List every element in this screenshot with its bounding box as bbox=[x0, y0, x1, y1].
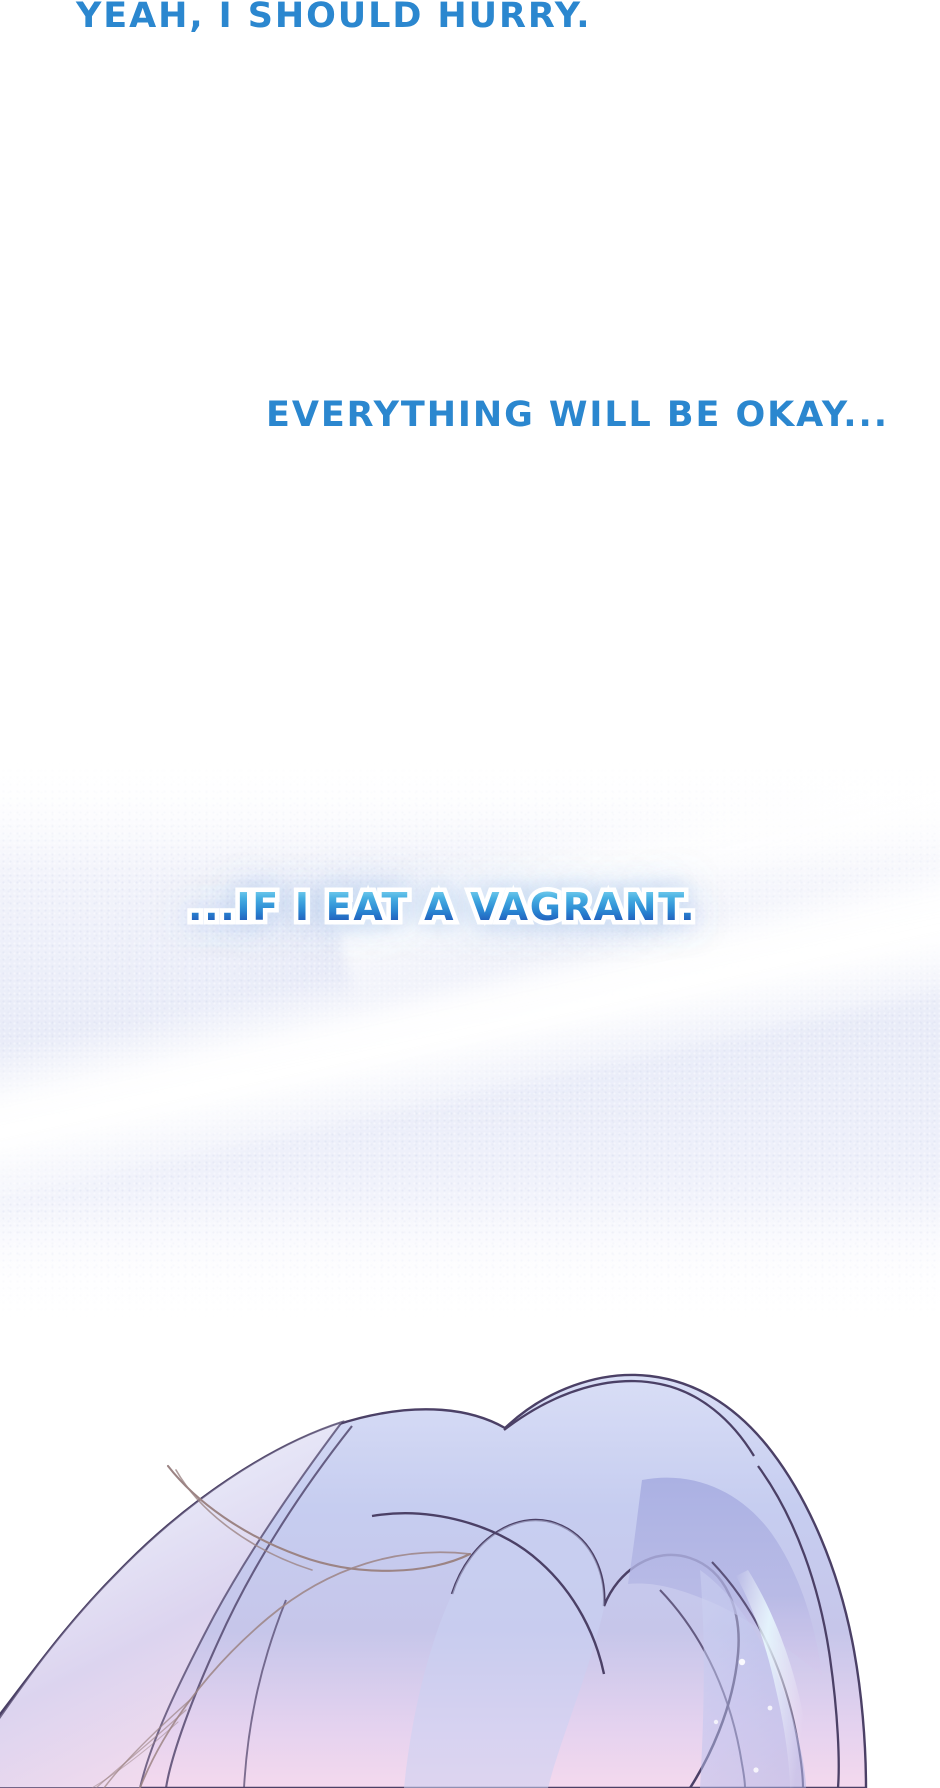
hair-sparkle bbox=[714, 1720, 718, 1724]
character-hair bbox=[0, 1270, 940, 1788]
hair-sparkle bbox=[768, 1706, 773, 1711]
caption-line-3-stack: ...IF I EAT A VAGRANT. ...IF I EAT A VAG… bbox=[188, 888, 696, 928]
comic-panel: YEAH, I SHOULD HURRY. EVERYTHING WILL BE… bbox=[0, 0, 940, 1788]
caption-line-3-glow: ...IF I EAT A VAGRANT. ...IF I EAT A VAG… bbox=[188, 888, 696, 928]
caption-line-3-fill: ...IF I EAT A VAGRANT. bbox=[188, 888, 696, 928]
hair-illustration bbox=[0, 1270, 940, 1788]
snow-field-background bbox=[0, 760, 940, 1320]
caption-line-1: YEAH, I SHOULD HURRY. bbox=[76, 0, 592, 35]
hair-sparkle bbox=[753, 1767, 758, 1772]
caption-line-2: EVERYTHING WILL BE OKAY... bbox=[266, 397, 889, 434]
hair-sparkle bbox=[739, 1659, 745, 1665]
